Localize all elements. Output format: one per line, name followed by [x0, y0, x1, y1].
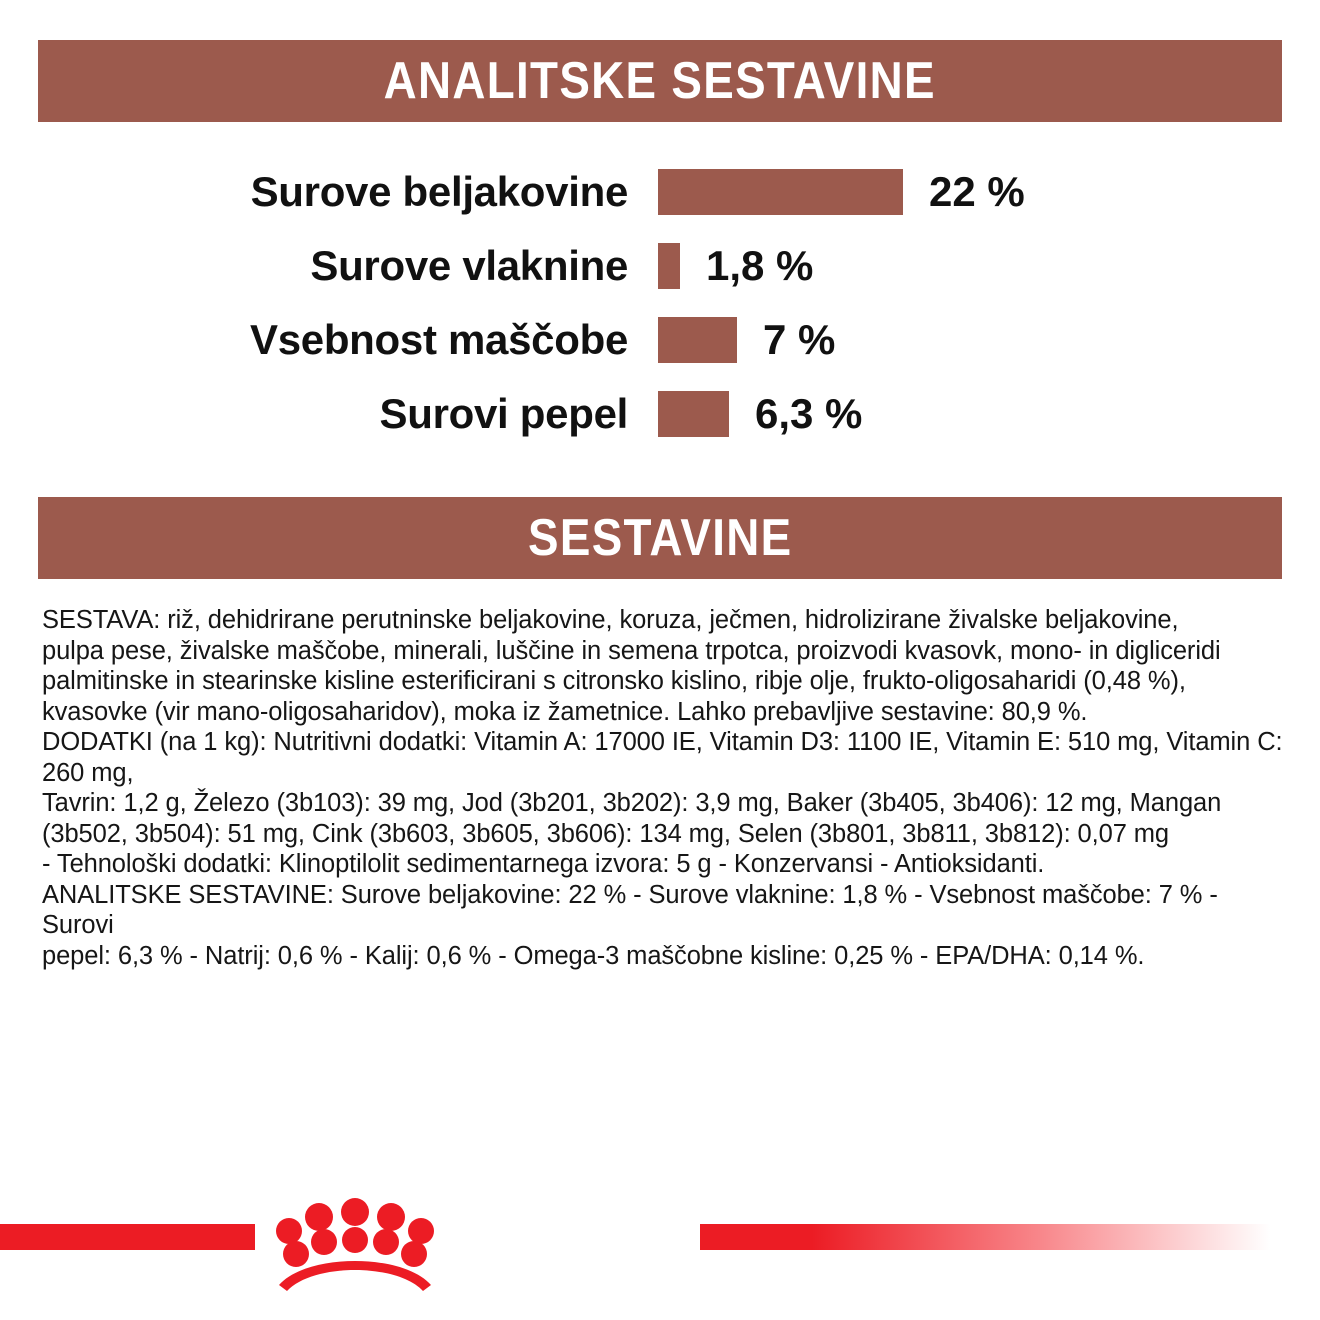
ingredients-line: - Tehnološki dodatki: Klinoptilolit sedi…	[42, 849, 1292, 880]
ingredients-line: pulpa pese, živalske maščobe, minerali, …	[42, 636, 1292, 667]
ingredients-line: kvasovke (vir mano-oligosaharidov), moka…	[42, 697, 1292, 728]
constituent-bar-group: 1,8 %	[658, 243, 813, 289]
ingredients-line: ANALITSKE SESTAVINE: Surove beljakovine:…	[42, 880, 1292, 941]
constituent-bar	[658, 317, 737, 363]
ingredients-title: SESTAVINE	[528, 508, 792, 568]
constituent-bar-group: 7 %	[658, 317, 835, 363]
constituent-value: 6,3 %	[755, 393, 862, 435]
constituent-value: 22 %	[929, 171, 1025, 213]
constituent-row: Surovi pepel 6,3 %	[0, 377, 1320, 451]
constituent-label: Surove vlaknine	[0, 245, 628, 287]
ingredients-header: SESTAVINE	[38, 497, 1282, 579]
constituent-bar-group: 22 %	[658, 169, 1025, 215]
constituent-label: Vsebnost maščobe	[0, 319, 628, 361]
ingredients-line: Tavrin: 1,2 g, Železo (3b103): 39 mg, Jo…	[42, 788, 1292, 819]
ingredients-line: SESTAVA: riž, dehidrirane perutninske be…	[42, 605, 1292, 636]
constituent-label: Surovi pepel	[0, 393, 628, 435]
constituent-label: Surove beljakovine	[0, 171, 628, 213]
page-footer	[0, 1190, 1320, 1320]
ingredients-line: DODATKI (na 1 kg): Nutritivni dodatki: V…	[42, 727, 1292, 788]
constituent-row: Vsebnost maščobe 7 %	[0, 303, 1320, 377]
footer-rule-left	[0, 1224, 255, 1250]
analytical-constituents-header: ANALITSKE SESTAVINE	[38, 40, 1282, 122]
ingredients-line: pepel: 6,3 % - Natrij: 0,6 % - Kalij: 0,…	[42, 941, 1292, 972]
ingredients-body: SESTAVA: riž, dehidrirane perutninske be…	[42, 605, 1292, 971]
ingredients-line: (3b502, 3b504): 51 mg, Cink (3b603, 3b60…	[42, 819, 1292, 850]
analytical-constituents-chart: Surove beljakovine 22 % Surove vlaknine …	[0, 155, 1320, 451]
constituent-value: 1,8 %	[706, 245, 813, 287]
constituent-bar	[658, 169, 903, 215]
constituent-row: Surove vlaknine 1,8 %	[0, 229, 1320, 303]
constituent-bar-group: 6,3 %	[658, 391, 862, 437]
royal-canin-crown-icon	[255, 1184, 455, 1294]
nutrition-label-page: ANALITSKE SESTAVINE Surove beljakovine 2…	[0, 0, 1320, 1320]
analytical-constituents-title: ANALITSKE SESTAVINE	[384, 51, 936, 111]
constituent-bar	[658, 391, 729, 437]
constituent-row: Surove beljakovine 22 %	[0, 155, 1320, 229]
constituent-bar	[658, 243, 680, 289]
footer-rule-right	[700, 1224, 1320, 1250]
ingredients-line: palmitinske in stearinske kisline esteri…	[42, 666, 1292, 697]
constituent-value: 7 %	[763, 319, 835, 361]
